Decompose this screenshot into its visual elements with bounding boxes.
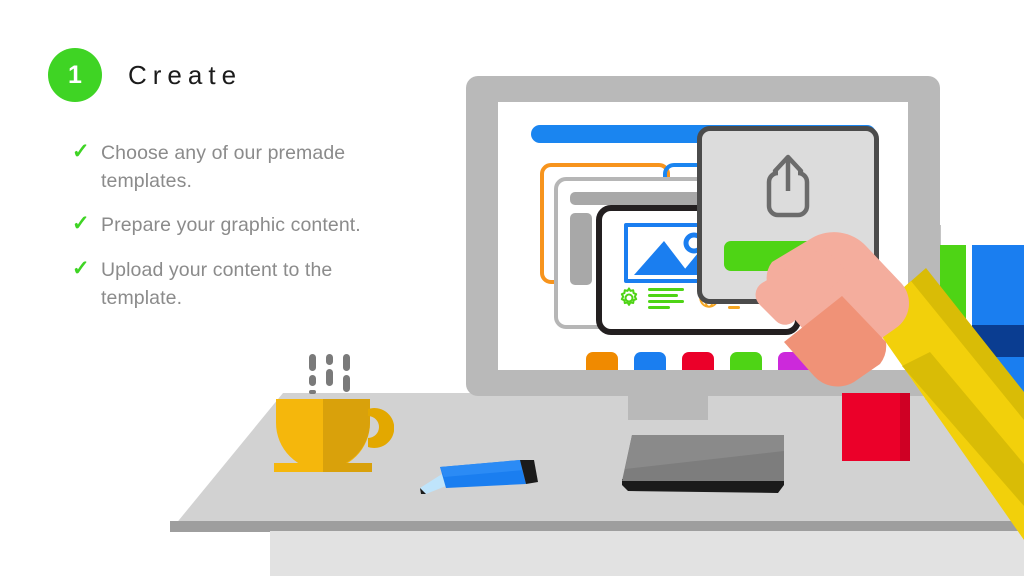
upload-confirm-button[interactable]: [724, 241, 852, 271]
coffee-cup: [272, 395, 394, 473]
color-swatch-row: [586, 352, 858, 370]
bullet-list: ✓ Choose any of our premade templates. ✓…: [72, 140, 402, 329]
text-lines-green: [648, 288, 684, 309]
list-item-label: Prepare your graphic content.: [101, 212, 361, 240]
desk-front-panel: [270, 531, 1024, 576]
stylus-pen: [420, 458, 540, 498]
list-item: ✓ Upload your content to the template.: [72, 257, 402, 312]
check-icon: ✓: [72, 140, 90, 164]
illustration-stage: 1 Create ✓ Choose any of our premade tem…: [0, 0, 1024, 576]
card-sidebar-block: [570, 213, 592, 285]
check-icon: ✓: [72, 257, 90, 281]
upload-dialog[interactable]: [697, 126, 879, 304]
standing-panel-green-band: [940, 320, 966, 356]
swatch-red[interactable]: [682, 352, 714, 370]
check-icon: ✓: [72, 212, 90, 236]
swatch-teal[interactable]: [826, 352, 858, 370]
list-item-label: Choose any of our premade templates.: [101, 140, 402, 195]
list-item: ✓ Prepare your graphic content.: [72, 212, 402, 240]
step-number-badge: 1: [48, 48, 102, 102]
upload-share-icon: [756, 149, 820, 221]
swatch-magenta[interactable]: [778, 352, 810, 370]
gear-icon: [618, 287, 640, 309]
keyboard-tablet[interactable]: [618, 425, 790, 497]
standing-panel-blue-band: [972, 325, 1024, 357]
red-square-card-shade: [900, 393, 910, 461]
list-item: ✓ Choose any of our premade templates.: [72, 140, 402, 195]
swatch-green[interactable]: [730, 352, 762, 370]
swatch-orange[interactable]: [586, 352, 618, 370]
page-title: Create: [128, 60, 242, 91]
list-item-label: Upload your content to the template.: [101, 257, 402, 312]
monitor-neck: [628, 396, 708, 420]
swatch-blue[interactable]: [634, 352, 666, 370]
step-header: 1 Create: [48, 48, 242, 102]
steam-icon: [305, 352, 357, 394]
